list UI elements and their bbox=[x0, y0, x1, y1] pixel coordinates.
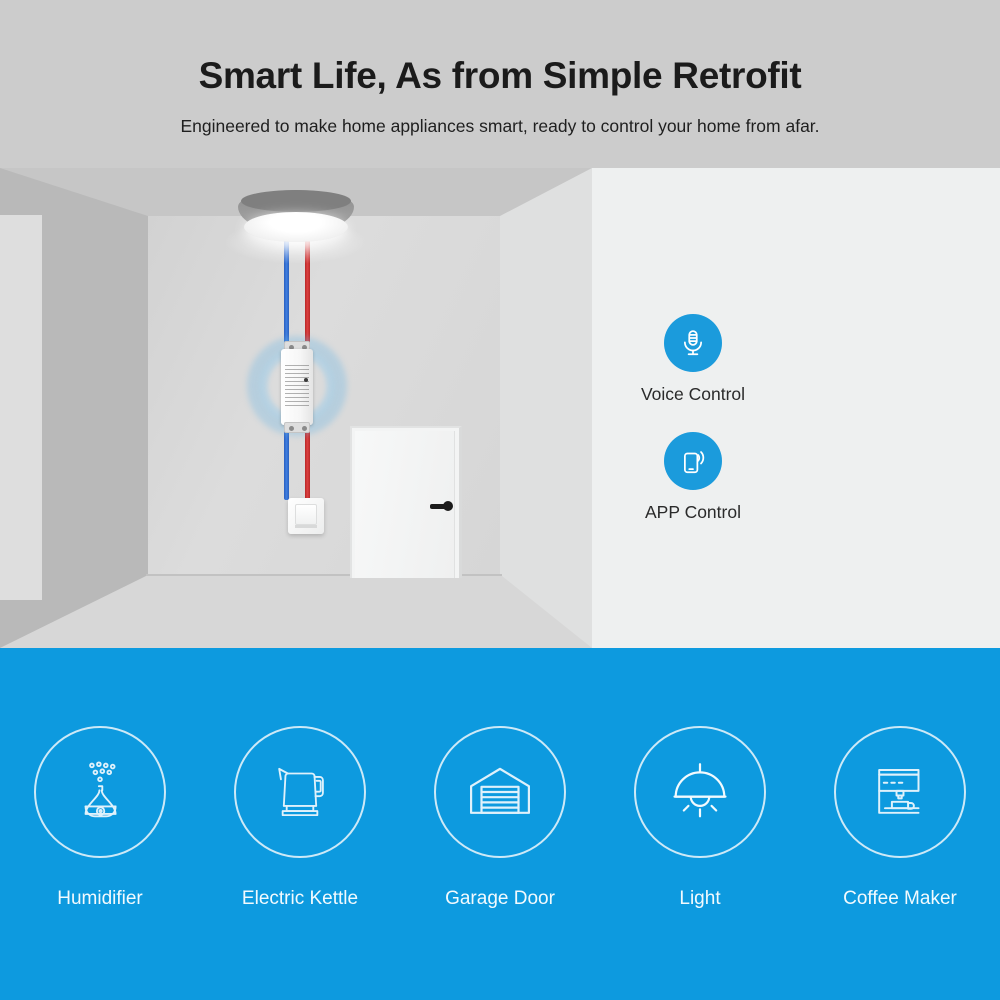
terminal-screw bbox=[289, 426, 294, 431]
header-banner: Smart Life, As from Simple Retrofit Engi… bbox=[0, 0, 1000, 168]
product-infographic: Smart Life, As from Simple Retrofit Engi… bbox=[0, 0, 1000, 1000]
app-control-badge bbox=[664, 432, 722, 490]
control-label: APP Control bbox=[613, 502, 773, 523]
module-terminal-bottom bbox=[284, 422, 310, 433]
device-icon-circle bbox=[234, 726, 366, 858]
device-item-garage-door: Garage Door bbox=[400, 726, 600, 976]
coffee-maker-icon bbox=[863, 755, 937, 829]
module-indicator-dot bbox=[304, 378, 308, 382]
control-item-voice: Voice Control bbox=[613, 314, 773, 405]
door-knob bbox=[443, 501, 453, 511]
device-band: Humidifier Electric Kettle bbox=[0, 648, 1000, 1000]
pendant-light-icon bbox=[663, 755, 737, 829]
wall-switch-rocker bbox=[295, 504, 317, 525]
device-label: Coffee Maker bbox=[843, 888, 957, 910]
garage-door-icon bbox=[463, 755, 537, 829]
lamp-diffuser bbox=[244, 212, 348, 242]
device-item-coffee-maker: Coffee Maker bbox=[800, 726, 1000, 976]
ceiling-lamp bbox=[238, 190, 354, 260]
page-title: Smart Life, As from Simple Retrofit bbox=[0, 55, 1000, 97]
room-scene: Voice Control APP Control bbox=[0, 168, 1000, 648]
electric-kettle-icon bbox=[263, 755, 337, 829]
voice-control-badge bbox=[664, 314, 722, 372]
humidifier-icon bbox=[63, 755, 137, 829]
room-door bbox=[350, 426, 462, 578]
device-icon-circle bbox=[834, 726, 966, 858]
room-left-wall-face bbox=[0, 168, 42, 648]
scene-right-panel bbox=[587, 168, 1000, 648]
device-icon-circle bbox=[434, 726, 566, 858]
wall-switch bbox=[288, 498, 324, 534]
phone-signal-icon bbox=[678, 446, 708, 476]
module-printed-label bbox=[285, 365, 309, 409]
control-label: Voice Control bbox=[613, 384, 773, 405]
device-icon-circle bbox=[34, 726, 166, 858]
device-list: Humidifier Electric Kettle bbox=[0, 726, 1000, 976]
lamp-top bbox=[241, 190, 351, 212]
wall-switch-shadow bbox=[295, 525, 317, 528]
device-label: Light bbox=[679, 888, 720, 910]
microphone-icon bbox=[678, 328, 708, 358]
control-item-app: APP Control bbox=[613, 432, 773, 523]
smart-switch-module bbox=[281, 349, 313, 425]
device-item-humidifier: Humidifier bbox=[0, 726, 200, 976]
device-label: Garage Door bbox=[445, 888, 555, 910]
device-label: Humidifier bbox=[57, 888, 143, 910]
device-item-light: Light bbox=[600, 726, 800, 976]
device-label: Electric Kettle bbox=[242, 888, 358, 910]
room-right-wall bbox=[500, 168, 592, 648]
module-body bbox=[281, 349, 313, 425]
device-item-electric-kettle: Electric Kettle bbox=[200, 726, 400, 976]
page-subtitle: Engineered to make home appliances smart… bbox=[0, 116, 1000, 137]
device-icon-circle bbox=[634, 726, 766, 858]
terminal-screw bbox=[302, 426, 307, 431]
